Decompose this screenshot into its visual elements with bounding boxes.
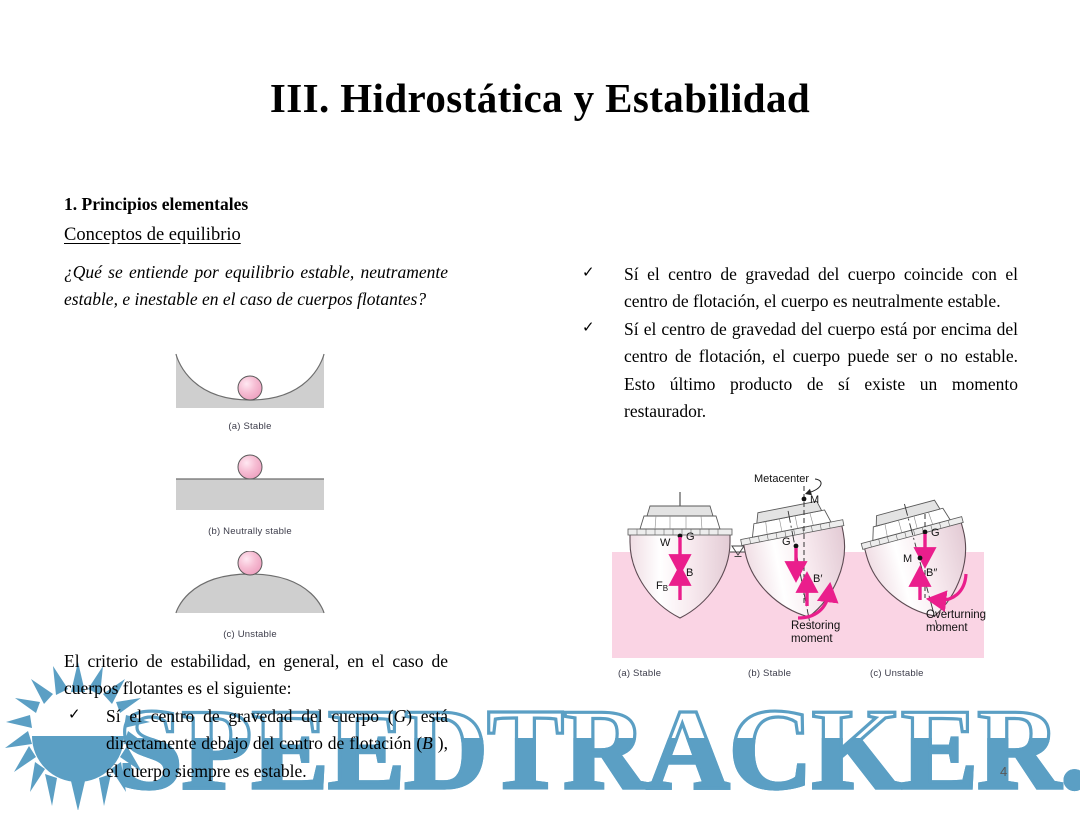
- list-item-label: Sí el centro de gravedad del cuerpo coin…: [624, 261, 1018, 315]
- list-item: ✓ Sí el centro de gravedad del cuerpo es…: [578, 316, 1018, 425]
- ship-stability-illustration: G W B FB: [608, 466, 998, 666]
- ship-caption-c: (c) Unstable: [870, 668, 924, 679]
- checkmark-icon: ✓: [64, 703, 106, 726]
- ball-stability-figure: (a) Stable (b) Neutrally stable (c) Unst…: [160, 352, 340, 642]
- metacenter-dot-b: [802, 497, 807, 502]
- label-metacenter-c: M: [903, 553, 912, 565]
- list-item-label: Sí el centro de gravedad del cuerpo (G) …: [106, 703, 448, 784]
- criterion-intro-paragraph: El criterio de estabilidad, en general, …: [64, 648, 448, 702]
- checkmark-icon: ✓: [578, 316, 624, 339]
- ball-neutrally-stable-illustration: [160, 448, 340, 520]
- checkmark-icon: ✓: [578, 261, 624, 284]
- left-bottom-text-column: El criterio de estabilidad, en general, …: [64, 648, 448, 785]
- list-item: ✓ Sí el centro de gravedad del cuerpo co…: [578, 261, 1018, 315]
- ship-caption-b: (b) Stable: [748, 668, 791, 679]
- list-item: ✓ Sí el centro de gravedad del cuerpo (G…: [64, 703, 448, 784]
- ball-caption-b: (b) Neutrally stable: [160, 526, 340, 537]
- left-text-column: 1. Principios elementales Conceptos de e…: [64, 194, 448, 313]
- label-center-buoyancy-b: B′: [813, 573, 822, 585]
- ball-caption-c: (c) Unstable: [160, 629, 340, 640]
- label-metacenter-b: M: [810, 494, 819, 506]
- ball-unstable-illustration: [160, 551, 340, 623]
- label-center-buoyancy-c: B″: [926, 567, 937, 579]
- label-center-gravity-b: G: [782, 536, 791, 548]
- list-item-label: Sí el centro de gravedad del cuerpo está…: [624, 316, 1018, 425]
- symbol-center-gravity: G: [394, 706, 407, 726]
- label-center-buoyancy-a: B: [686, 567, 693, 579]
- label-overturning-moment-line1: Overturning: [926, 609, 986, 621]
- label-metacenter: Metacenter: [754, 473, 809, 485]
- ball-caption-a: (a) Stable: [160, 421, 340, 432]
- ship-stability-figure: G W B FB: [608, 466, 998, 666]
- page-number: 4: [1000, 764, 1007, 779]
- right-text-column: ✓ Sí el centro de gravedad del cuerpo co…: [578, 260, 1018, 425]
- label-center-gravity-a: G: [686, 531, 695, 543]
- ball-stable-illustration: [160, 352, 340, 414]
- symbol-center-buoyancy: B: [422, 733, 433, 753]
- page-title: III. Hidrostática y Estabilidad: [0, 74, 1080, 122]
- label-restoring-moment-line2: moment: [791, 633, 833, 645]
- label-overturning-moment-line2: moment: [926, 622, 968, 634]
- subsection-heading: Conceptos de equilibrio: [64, 224, 241, 247]
- label-center-gravity-c: G: [931, 527, 940, 539]
- label-weight-a: W: [660, 537, 671, 549]
- label-restoring-moment-line1: Restoring: [791, 620, 840, 632]
- section-heading: 1. Principios elementales: [64, 194, 448, 216]
- ship-caption-a: (a) Stable: [618, 668, 661, 679]
- criterion-text-part1: Sí el centro de gravedad del cuerpo (: [106, 706, 394, 726]
- question-paragraph: ¿Qué se entiende por equilibrio estable,…: [64, 259, 448, 313]
